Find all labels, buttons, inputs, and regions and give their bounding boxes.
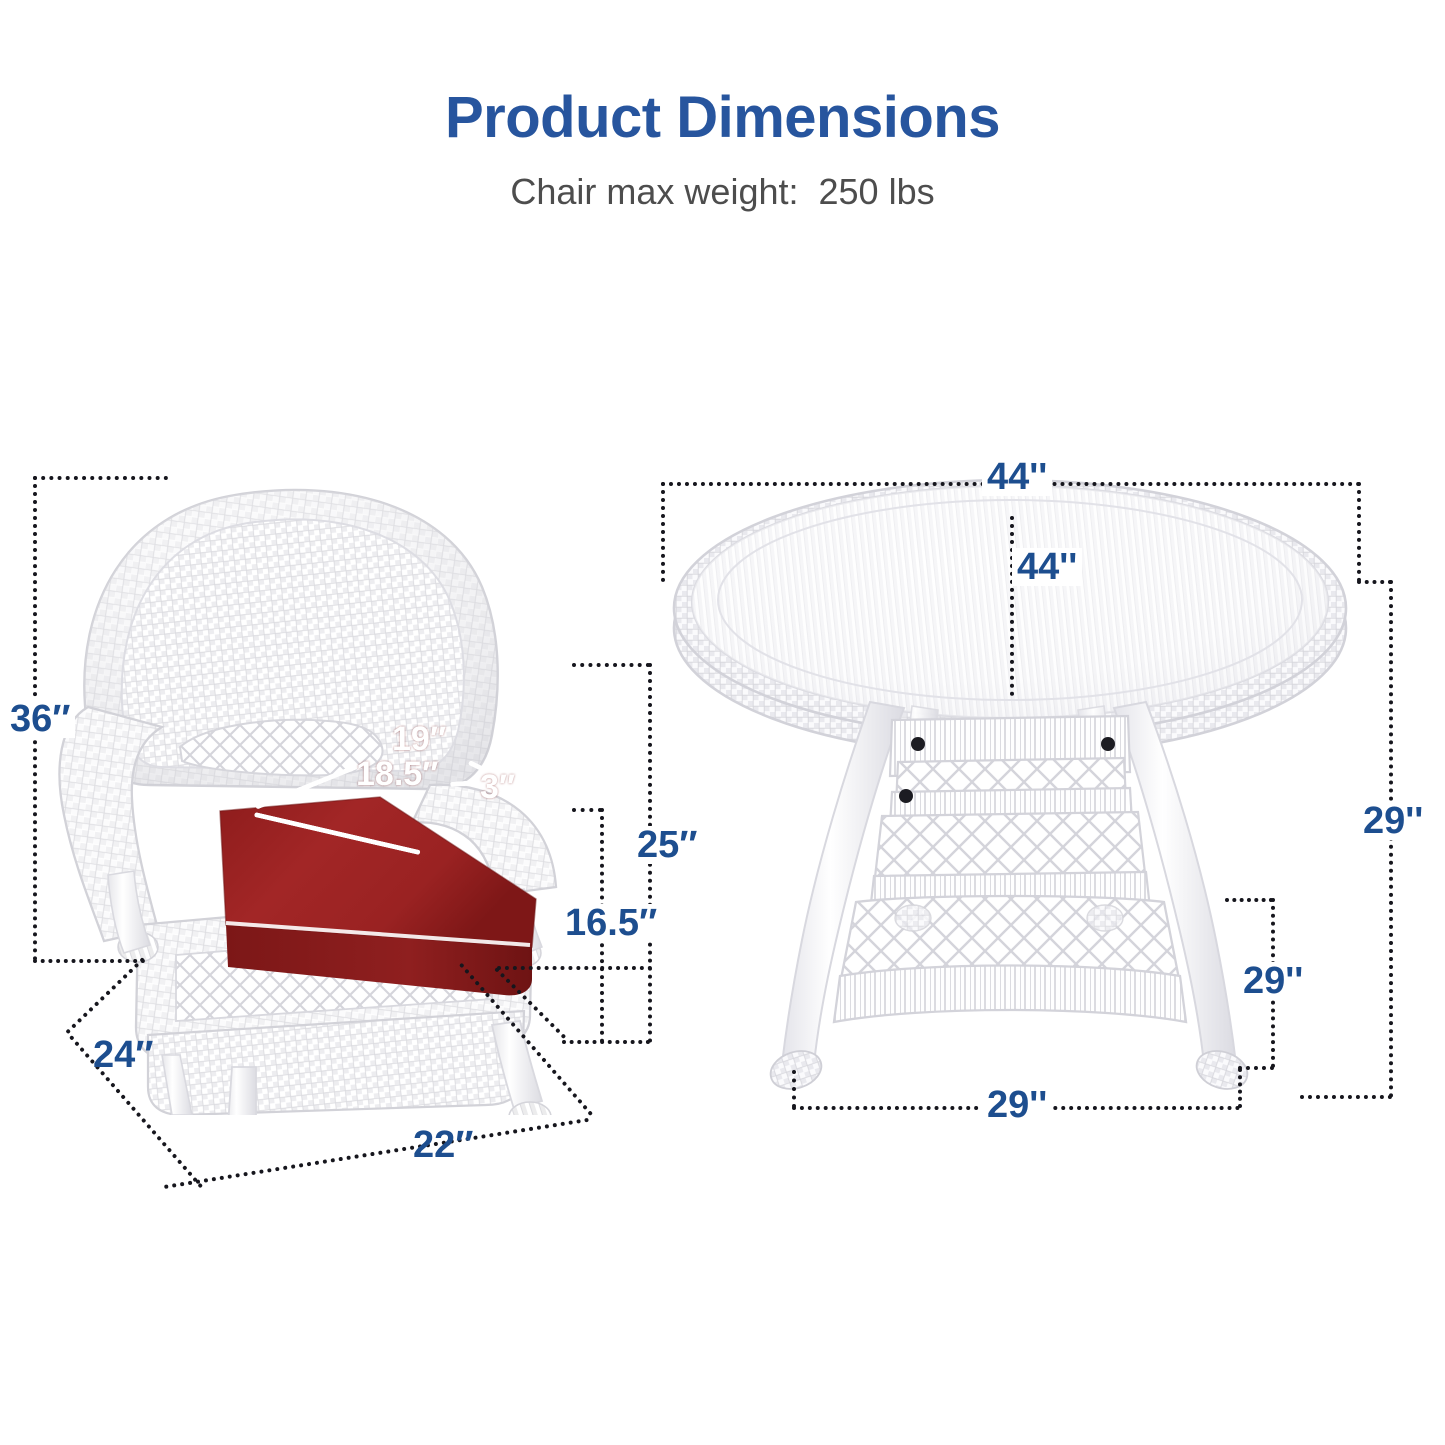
product-dimensions-diagram: Product Dimensions Chair max weight: 250… — [0, 0, 1445, 1445]
chair-floor-right-tick — [497, 966, 652, 970]
max-weight-note: Chair max weight: 250 lbs — [0, 171, 1445, 213]
chair-seat-height-top-tick — [572, 808, 602, 812]
table-width-right-tick — [1357, 482, 1361, 582]
table-height-top-tick — [1357, 580, 1392, 584]
chair-floor-edge-back-right — [494, 967, 566, 1039]
table-base-width-right-tick — [1238, 1068, 1242, 1108]
chair-back-height-bottom-tick — [562, 1040, 650, 1044]
table-width-label: 44'' — [982, 458, 1052, 496]
cushion-thickness-label: 3″ — [480, 770, 515, 804]
chair-floor-edge-back-left — [65, 957, 145, 1034]
table-height-label: 29'' — [1358, 802, 1428, 840]
chair-floor-edge-front — [164, 1118, 589, 1189]
table-height-bottom-tick — [1300, 1095, 1392, 1099]
table-base-height-top-tick — [1225, 898, 1273, 902]
table-width-left-tick — [661, 482, 665, 582]
chair-back-height-top-tick — [572, 663, 650, 667]
chair-width-label: 22″ — [408, 1126, 478, 1164]
cushion-front-width-label: 18.5″ — [356, 757, 438, 791]
page-title: Product Dimensions — [0, 88, 1445, 149]
header: Product Dimensions Chair max weight: 250… — [0, 88, 1445, 213]
table-base-height-bottom-tick — [1238, 1066, 1274, 1070]
table-base-height-label: 29'' — [1238, 962, 1308, 1000]
table-base-width-left-tick — [792, 1070, 796, 1108]
chair-height-top-tick — [33, 476, 168, 480]
cushion-back-width-label: 19″ — [392, 722, 446, 756]
table-depth-guide — [1010, 516, 1014, 696]
cushion-width-leader-top — [254, 812, 421, 855]
chair-height-label: 36″ — [5, 700, 75, 738]
chair-illustration — [30, 455, 650, 1115]
chair-floor-left-tick — [33, 959, 145, 963]
chair-seat-height-label: 16.5″ — [560, 904, 662, 942]
table-base-width-label: 29'' — [982, 1086, 1052, 1124]
table-depth-label: 44'' — [1012, 548, 1082, 586]
chair-back-height-label: 25″ — [632, 826, 702, 864]
cushion-width-leader-bottom — [255, 764, 359, 810]
chair-depth-label: 24″ — [88, 1036, 158, 1074]
